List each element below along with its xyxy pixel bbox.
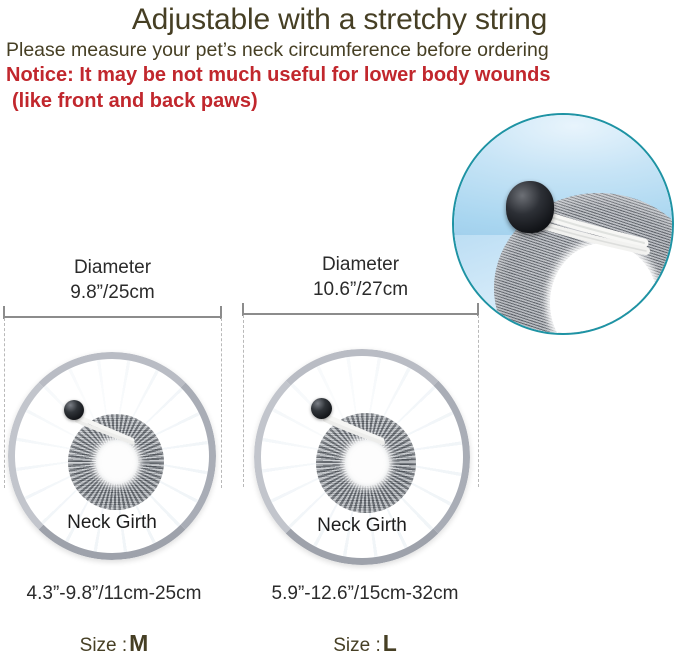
page-title: Adjustable with a stretchy string bbox=[0, 0, 679, 38]
diameter-value-m: 9.8”/25cm bbox=[3, 280, 222, 305]
cone-neck-hole-l bbox=[345, 440, 389, 486]
size-value-m: M bbox=[129, 630, 148, 656]
guide-line-left-l bbox=[243, 315, 244, 487]
diameter-caption-m: Diameter 9.8”/25cm bbox=[3, 255, 222, 305]
guide-line-right-m bbox=[221, 318, 222, 488]
notice-line-1: Notice: It may be not much useful for lo… bbox=[0, 62, 679, 88]
diameter-value-l: 10.6”/27cm bbox=[242, 277, 479, 302]
diameter-bracket-l bbox=[242, 303, 479, 316]
cone-neck-hole-m bbox=[96, 440, 138, 484]
size-caption-m: Size :M bbox=[0, 630, 228, 657]
neck-girth-value-m: 4.3”-9.8”/11cm-25cm bbox=[0, 583, 228, 605]
bracket-bar-l bbox=[242, 313, 479, 315]
diameter-label-l: Diameter bbox=[242, 252, 479, 277]
size-label-l: Size : bbox=[333, 635, 381, 656]
neck-girth-label-m: Neck Girth bbox=[8, 512, 216, 534]
diameter-caption-l: Diameter 10.6”/27cm bbox=[242, 252, 479, 302]
neck-girth-label-l: Neck Girth bbox=[254, 515, 470, 537]
neck-girth-value-l: 5.9”-12.6”/15cm-32cm bbox=[245, 583, 485, 605]
cone-cord-lock-toggle-m bbox=[64, 400, 84, 420]
bracket-bar-m bbox=[3, 316, 222, 318]
diameter-bracket-m bbox=[3, 306, 222, 319]
cone-photo-m: Neck Girth bbox=[8, 352, 216, 560]
size-caption-l: Size :L bbox=[245, 630, 485, 657]
measure-instruction: Please measure your pet’s neck circumfer… bbox=[0, 38, 679, 62]
size-label-m: Size : bbox=[80, 635, 128, 656]
diameter-label-m: Diameter bbox=[3, 255, 222, 280]
guide-line-right-l bbox=[478, 315, 479, 487]
guide-line-left-m bbox=[4, 318, 5, 488]
notice-line-2: (like front and back paws) bbox=[0, 88, 679, 114]
header-text-block: Adjustable with a stretchy string Please… bbox=[0, 0, 679, 114]
inset-cord-lock-toggle bbox=[506, 181, 554, 233]
size-value-l: L bbox=[383, 630, 397, 656]
cord-lock-closeup-photo bbox=[454, 115, 672, 333]
cone-photo-l: Neck Girth bbox=[254, 349, 470, 565]
cone-cord-lock-toggle-l bbox=[311, 398, 332, 419]
cord-lock-closeup-inset bbox=[452, 113, 674, 335]
